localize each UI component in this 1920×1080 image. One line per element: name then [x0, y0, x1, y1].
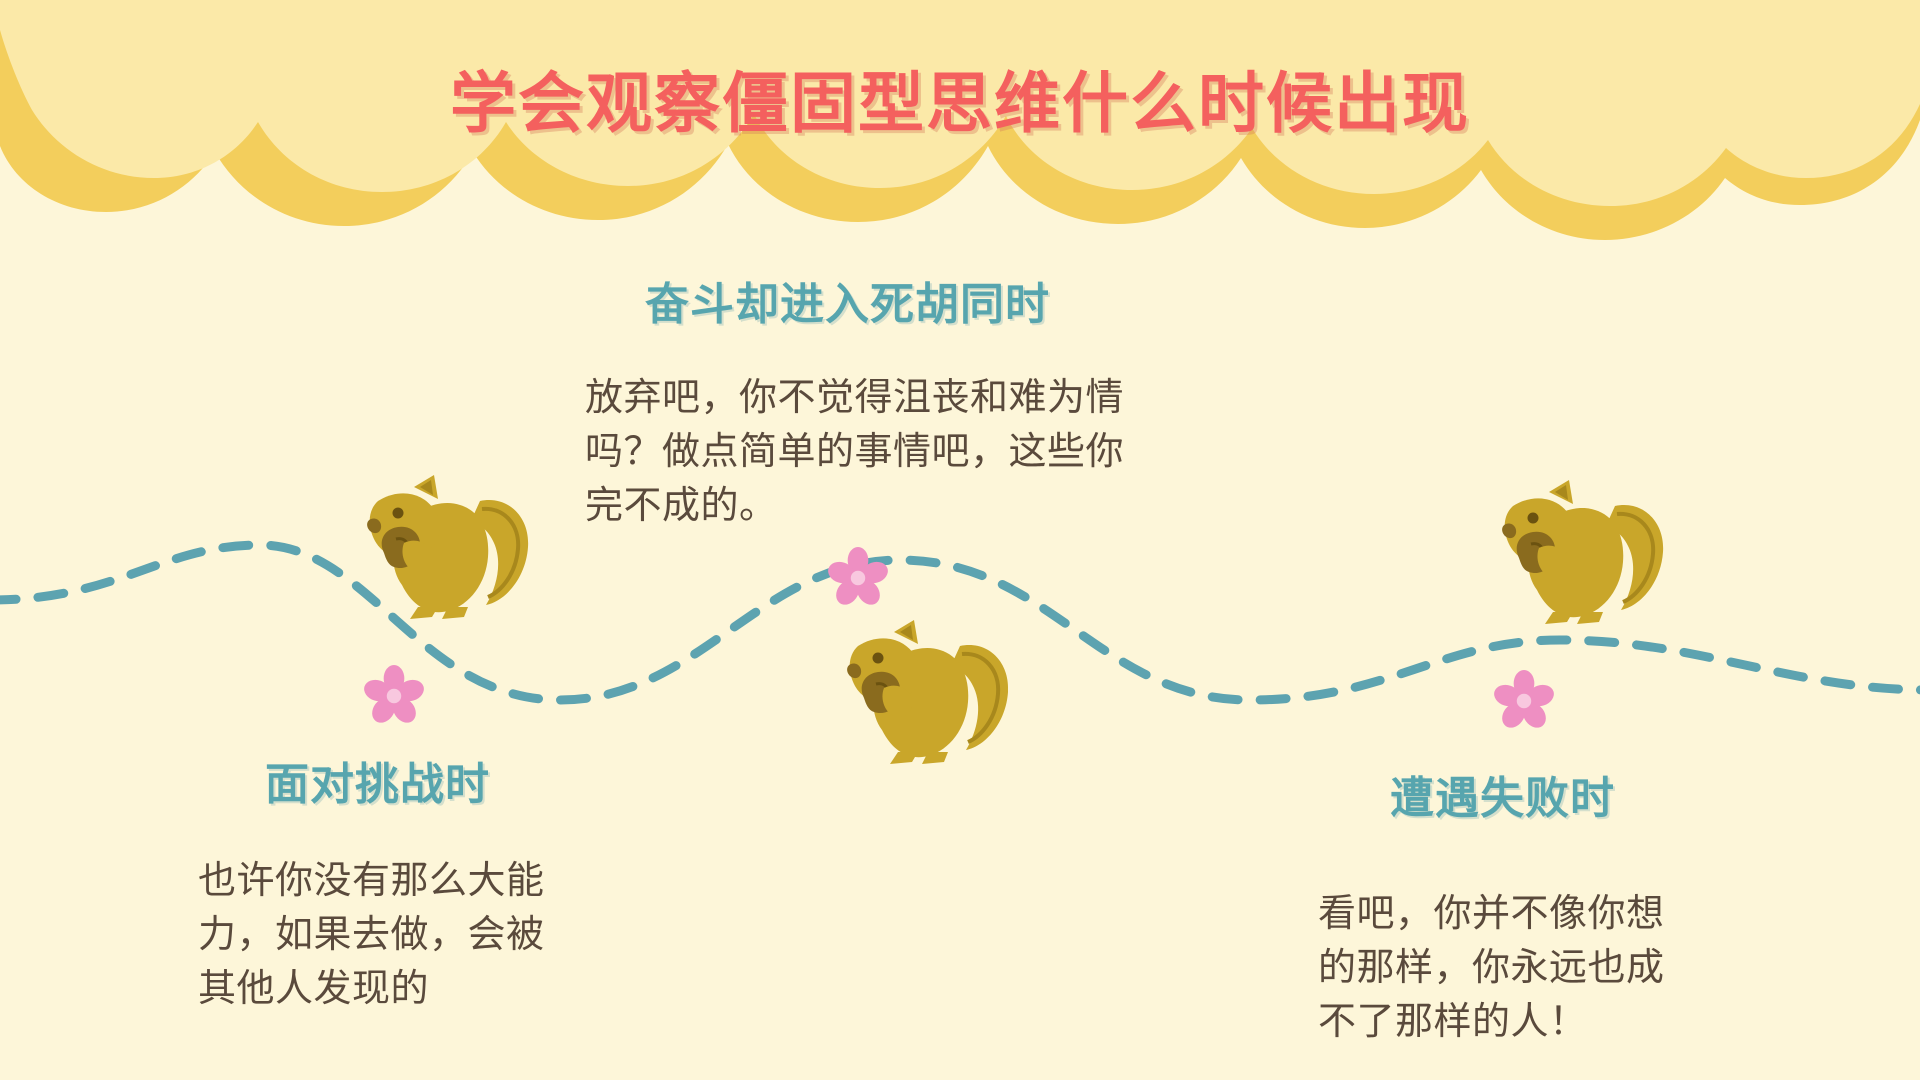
section-heading-failure: 遭遇失败时	[1390, 762, 1615, 826]
flower-svg	[363, 665, 425, 727]
section-heading-challenge: 面对挑战时	[265, 748, 490, 812]
flower-petals	[363, 665, 425, 727]
flower-svg	[827, 547, 889, 609]
section-body-challenge: 也许你没有那么大能 力，如果去做，会被 其他人发现的	[198, 855, 668, 1017]
squirrel-svg	[810, 610, 1025, 770]
section-heading-struggle: 奋斗却进入死胡同时	[645, 268, 1050, 332]
flower-svg	[1493, 670, 1555, 732]
squirrel-icon	[330, 465, 545, 625]
slide-canvas: 学会观察僵固型思维什么时候出现 奋斗却进入死胡同时 面对挑战时 遭遇失败时 放弃…	[0, 0, 1920, 1080]
section-body-struggle: 放弃吧，你不觉得沮丧和难为情 吗？做点简单的事情吧，这些你 完不成的。	[585, 372, 1285, 534]
squirrel-group	[847, 620, 1008, 764]
page-title: 学会观察僵固型思维什么时候出现	[0, 50, 1920, 146]
squirrel-svg	[1465, 470, 1680, 630]
flower-icon	[1493, 670, 1555, 732]
squirrel-group	[367, 475, 528, 619]
squirrel-icon	[1465, 470, 1680, 630]
flower-icon	[363, 665, 425, 727]
squirrel-icon	[810, 610, 1025, 770]
flower-icon	[827, 547, 889, 609]
squirrel-group	[1502, 480, 1663, 624]
section-body-failure: 看吧，你并不像你想 的那样，你永远也成 不了那样的人！	[1318, 888, 1788, 1050]
flower-petals	[1493, 670, 1555, 732]
squirrel-svg	[330, 465, 545, 625]
flower-petals	[827, 547, 889, 609]
